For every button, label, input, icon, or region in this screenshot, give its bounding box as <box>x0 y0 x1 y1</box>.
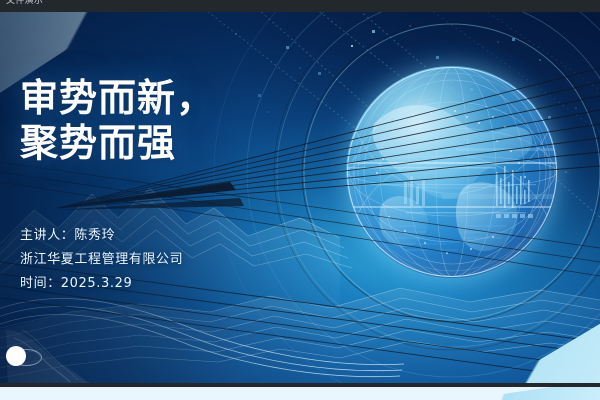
white-dot-marker <box>6 346 26 366</box>
presentation-window: 文件演示 <box>0 0 600 400</box>
window-title-text: 文件演示 <box>6 0 43 5</box>
meta-company: 浙江华夏工程管理有限公司 <box>20 248 183 272</box>
bottom-strip <box>0 386 600 400</box>
window-titlebar: 文件演示 <box>0 0 600 12</box>
slide-title: 审势而新， 聚势而强 <box>20 76 215 166</box>
title-line-1: 审势而新， <box>20 76 215 121</box>
slide-meta: 主讲人：陈秀玲 浙江华夏工程管理有限公司 时间：2025.3.29 <box>20 224 183 296</box>
meta-date: 时间：2025.3.29 <box>20 272 183 296</box>
meta-presenter: 主讲人：陈秀玲 <box>20 224 183 248</box>
bottom-corner-wedge <box>430 386 600 400</box>
slide-bottom-edge <box>0 383 600 387</box>
left-vignette <box>0 12 600 386</box>
title-line-2: 聚势而强 <box>20 121 215 166</box>
slide-canvas: 审势而新， 聚势而强 主讲人：陈秀玲 浙江华夏工程管理有限公司 时间：2025.… <box>0 12 600 386</box>
